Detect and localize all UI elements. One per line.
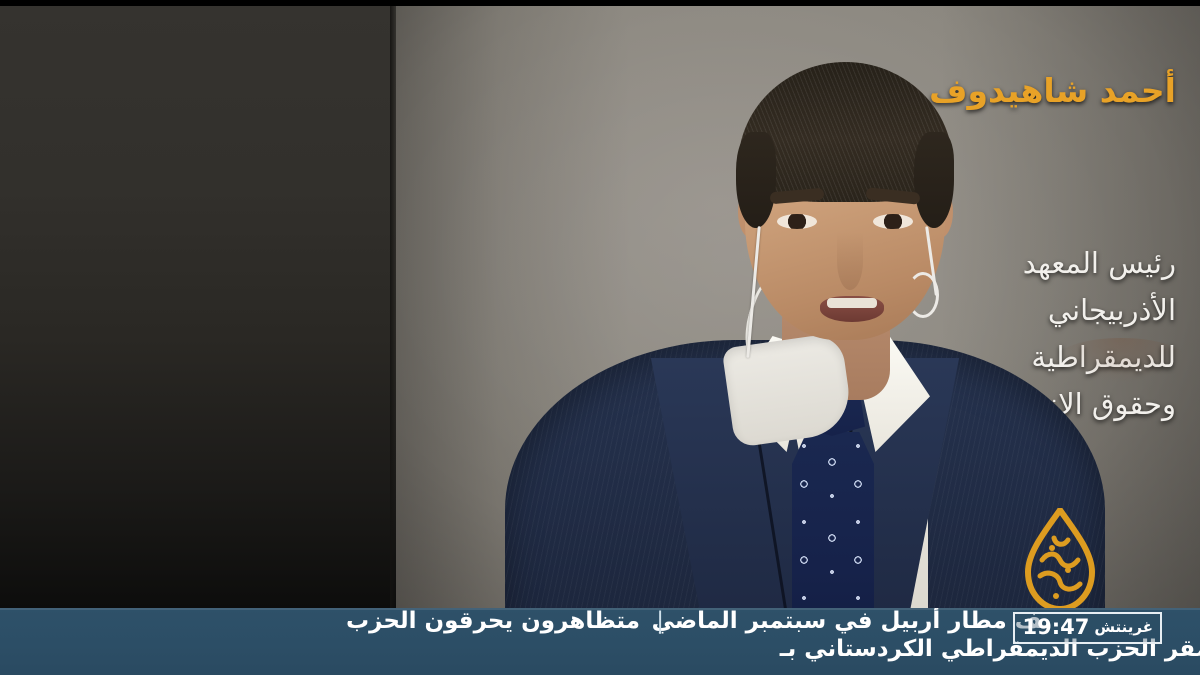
earphone-loop-right xyxy=(907,272,939,318)
al-jazeera-logo-icon xyxy=(1012,508,1108,612)
lower-third-panel xyxy=(0,6,396,608)
eye-left xyxy=(777,214,817,229)
ticker-timezone-label: غرينتش xyxy=(1094,618,1153,636)
letterbox-top-bar xyxy=(0,0,1200,6)
hair-side-left xyxy=(736,132,776,228)
eye-right xyxy=(873,214,913,229)
ticker-headline-2: متظاهرون يحرقون الحزب xyxy=(346,608,640,634)
ticker-time-value: 19:47 xyxy=(1022,615,1089,639)
ticker-clock: غرينتش 19:47 xyxy=(1013,612,1162,644)
lower-third-edge xyxy=(390,6,396,608)
ticker-separator: | xyxy=(656,608,664,634)
news-ticker[interactable]: ـف مطار أربيل في سبتمبر الماضي | متظاهرو… xyxy=(0,608,1200,675)
teeth xyxy=(827,298,877,308)
broadcast-frame: أحمد شاهيدوف رئيس المعهد الأذربيجاني للد… xyxy=(0,0,1200,675)
ticker-headline-1: ـف مطار أربيل في سبتمبر الماضي xyxy=(652,608,1050,634)
hair-side-right xyxy=(914,132,954,228)
nose xyxy=(837,232,863,290)
chin-shadow xyxy=(1055,338,1187,382)
